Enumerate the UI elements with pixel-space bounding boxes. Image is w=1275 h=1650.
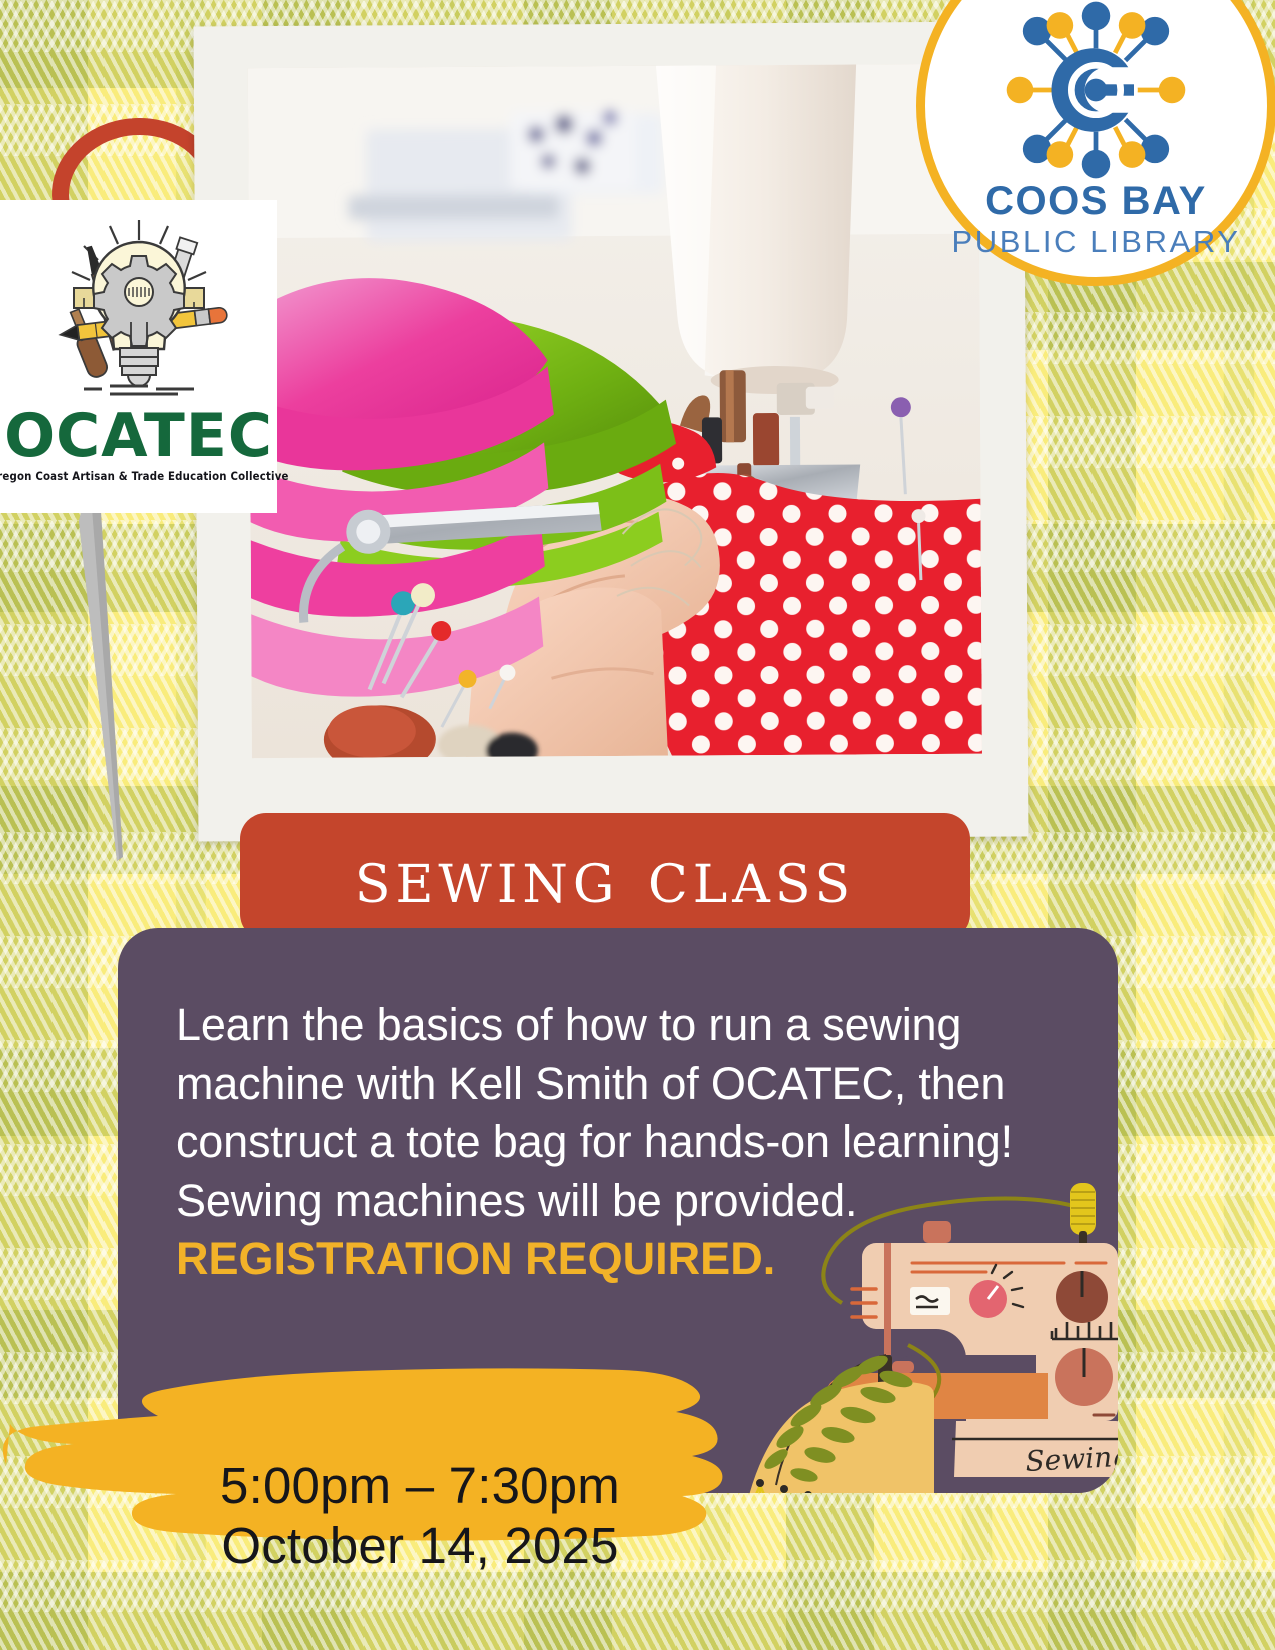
machine-sewing-script: Sewing: [1025, 1440, 1118, 1478]
sewing-machine-illustration: Sewing: [726, 1139, 1118, 1493]
title-banner: Sewing Class: [240, 813, 970, 940]
datetime-brush-banner: 5:00pm – 7:30pm October 14, 2025: [0, 1368, 760, 1638]
ocatec-wordmark: OCATEC: [4, 408, 273, 465]
page-title: Sewing Class: [355, 840, 855, 914]
datetime-text-group: 5:00pm – 7:30pm October 14, 2025: [0, 1368, 760, 1638]
sewing-photo-art: [248, 64, 982, 758]
library-name: COOS BAY: [985, 181, 1207, 221]
poster-canvas: COOS BAY PUBLIC LIBRARY: [0, 0, 1275, 1650]
network-node-c-icon: [1001, 0, 1191, 185]
ocatec-tagline: Oregon Coast Artisan & Trade Education C…: [0, 470, 289, 483]
registration-required-callout: REGISTRATION REQUIRED.: [176, 1233, 775, 1284]
event-date: October 14, 2025: [221, 1516, 618, 1576]
ocatec-logo: OCATEC Oregon Coast Artisan & Trade Educ…: [0, 200, 277, 513]
lightbulb-gear-tools-icon: [36, 214, 242, 412]
photo-frame: [194, 21, 1029, 841]
photo-image: [248, 64, 982, 758]
event-time: 5:00pm – 7:30pm: [220, 1456, 620, 1516]
sewing-needle-icon: [75, 505, 135, 865]
coos-bay-library-logo: COOS BAY PUBLIC LIBRARY: [916, 0, 1275, 286]
library-subtitle: PUBLIC LIBRARY: [951, 226, 1240, 257]
